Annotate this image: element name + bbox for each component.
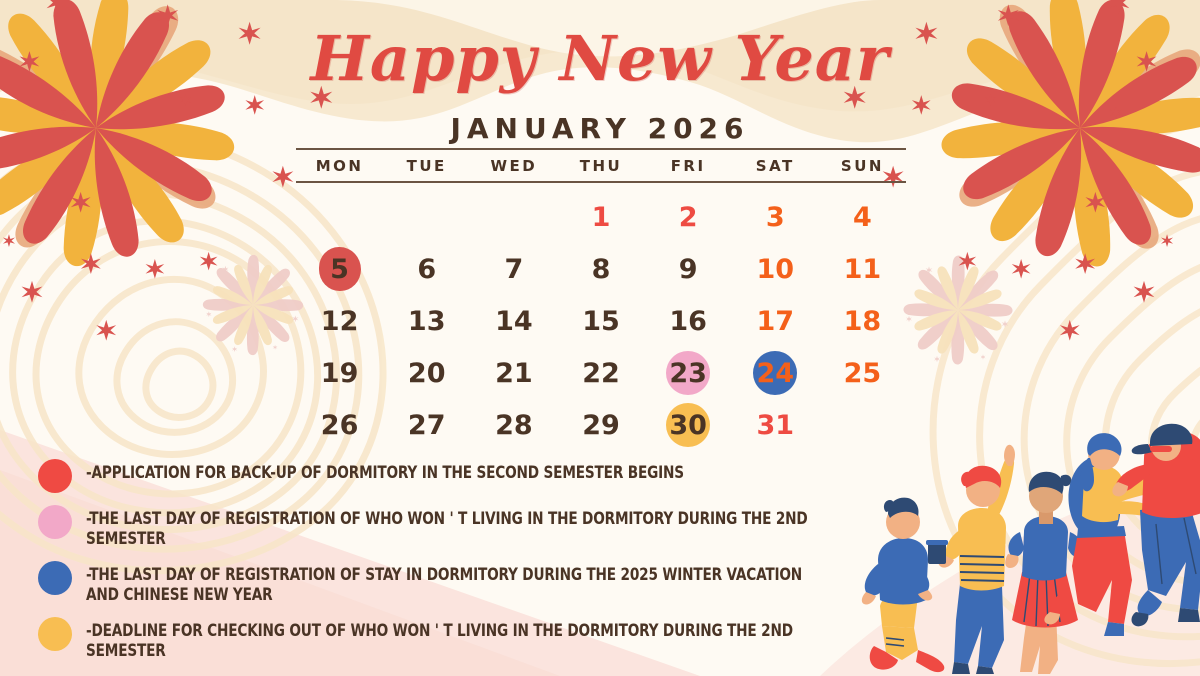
day-number: 17 [756, 308, 794, 335]
calendar-day-4[interactable]: 4 [819, 191, 906, 243]
calendar-day-9[interactable]: 9 [645, 243, 732, 295]
calendar-day-19[interactable]: 19 [296, 347, 383, 399]
calendar-weeks: 1234567891011121314151617181920212223242… [296, 191, 906, 451]
calendar-week-row: 19202122232425 [296, 347, 906, 399]
calendar-week-row: 262728293031 [296, 399, 906, 451]
calendar-day-1[interactable]: 1 [557, 191, 644, 243]
legend-list: -APPLICATION FOR BACK-UP OF DORMITORY IN… [38, 458, 938, 672]
calendar-day-11[interactable]: 11 [819, 243, 906, 295]
day-number: 14 [495, 308, 533, 335]
calendar-day-7[interactable]: 7 [470, 243, 557, 295]
calendar-day-24[interactable]: 24 [732, 347, 819, 399]
day-number: 11 [844, 256, 882, 283]
day-number: 24 [756, 360, 794, 387]
legend-item: -THE LAST DAY OF REGISTRATION OF STAY IN… [38, 560, 938, 605]
calendar-day-28[interactable]: 28 [470, 399, 557, 451]
day-number: 20 [408, 360, 446, 387]
day-number: 18 [844, 308, 882, 335]
legend-dot-red [38, 459, 72, 493]
day-number: 1 [592, 204, 611, 231]
day-number: 31 [756, 412, 794, 439]
calendar-day-22[interactable]: 22 [557, 347, 644, 399]
calendar-cell-empty [383, 191, 470, 243]
calendar-cell-empty [296, 191, 383, 243]
calendar-day-29[interactable]: 29 [557, 399, 644, 451]
header-rule-bottom [296, 181, 906, 183]
calendar-day-6[interactable]: 6 [383, 243, 470, 295]
calendar-grid: MON TUE WED THU FRI SAT SUN 123456789101… [296, 148, 906, 451]
day-number: 27 [408, 412, 446, 439]
day-number: 6 [417, 256, 436, 283]
day-number: 5 [330, 256, 349, 283]
calendar-day-5[interactable]: 5 [296, 243, 383, 295]
calendar-day-8[interactable]: 8 [557, 243, 644, 295]
day-number: 21 [495, 360, 533, 387]
day-number: 26 [321, 412, 359, 439]
day-number: 28 [495, 412, 533, 439]
calendar-day-12[interactable]: 12 [296, 295, 383, 347]
calendar-cell-empty [470, 191, 557, 243]
weekday-header-row: MON TUE WED THU FRI SAT SUN [296, 150, 906, 181]
calendar-day-31[interactable]: 31 [732, 399, 819, 451]
weekday-wed: WED [470, 157, 557, 175]
month-title: JANUARY 2026 [0, 112, 1200, 145]
day-number: 29 [582, 412, 620, 439]
calendar-day-23[interactable]: 23 [645, 347, 732, 399]
day-number: 16 [669, 308, 707, 335]
page-title: Happy New Year [0, 22, 1200, 95]
day-number: 22 [582, 360, 620, 387]
day-number: 13 [408, 308, 446, 335]
calendar-week-row: 12131415161718 [296, 295, 906, 347]
weekday-sat: SAT [732, 157, 819, 175]
day-number: 12 [321, 308, 359, 335]
weekday-thu: THU [557, 157, 644, 175]
day-number: 23 [669, 360, 707, 387]
person-cheering [926, 445, 1015, 674]
calendar-day-17[interactable]: 17 [732, 295, 819, 347]
day-number: 2 [679, 204, 698, 231]
day-number: 15 [582, 308, 620, 335]
day-number: 4 [853, 204, 872, 231]
day-number: 10 [756, 256, 794, 283]
legend-label: -DEADLINE FOR CHECKING OUT OF WHO WON ' … [86, 616, 870, 661]
weekday-fri: FRI [645, 157, 732, 175]
calendar-day-2[interactable]: 2 [645, 191, 732, 243]
legend-dot-blue [38, 561, 72, 595]
calendar-day-16[interactable]: 16 [645, 295, 732, 347]
calendar-day-21[interactable]: 21 [470, 347, 557, 399]
legend-dot-pink [38, 505, 72, 539]
legend-label: -APPLICATION FOR BACK-UP OF DORMITORY IN… [86, 458, 684, 483]
day-number: 8 [592, 256, 611, 283]
calendar-day-20[interactable]: 20 [383, 347, 470, 399]
calendar-day-13[interactable]: 13 [383, 295, 470, 347]
legend-label: -THE LAST DAY OF REGISTRATION OF WHO WON… [86, 504, 870, 549]
day-number: 7 [504, 256, 523, 283]
calendar-week-row: 567891011 [296, 243, 906, 295]
calendar-day-10[interactable]: 10 [732, 243, 819, 295]
weekday-tue: TUE [383, 157, 470, 175]
day-number: 25 [844, 360, 882, 387]
calendar-cell-empty [819, 399, 906, 451]
calendar-day-27[interactable]: 27 [383, 399, 470, 451]
calendar-day-14[interactable]: 14 [470, 295, 557, 347]
calendar-day-25[interactable]: 25 [819, 347, 906, 399]
weekday-sun: SUN [819, 157, 906, 175]
legend-item: -THE LAST DAY OF REGISTRATION OF WHO WON… [38, 504, 938, 549]
calendar-day-30[interactable]: 30 [645, 399, 732, 451]
legend-label: -THE LAST DAY OF REGISTRATION OF STAY IN… [86, 560, 802, 605]
calendar-day-3[interactable]: 3 [732, 191, 819, 243]
calendar-day-18[interactable]: 18 [819, 295, 906, 347]
weekday-mon: MON [296, 157, 383, 175]
day-number: 19 [321, 360, 359, 387]
calendar-day-15[interactable]: 15 [557, 295, 644, 347]
new-year-calendar-poster: Happy New Year JANUARY 2026 MON TUE WED … [0, 0, 1200, 676]
day-number: 30 [669, 412, 707, 439]
legend-item: -DEADLINE FOR CHECKING OUT OF WHO WON ' … [38, 616, 938, 661]
calendar-week-row: 1234 [296, 191, 906, 243]
day-number: 9 [679, 256, 698, 283]
calendar-day-26[interactable]: 26 [296, 399, 383, 451]
legend-dot-amber [38, 617, 72, 651]
day-number: 3 [766, 204, 785, 231]
legend-item: -APPLICATION FOR BACK-UP OF DORMITORY IN… [38, 458, 938, 493]
